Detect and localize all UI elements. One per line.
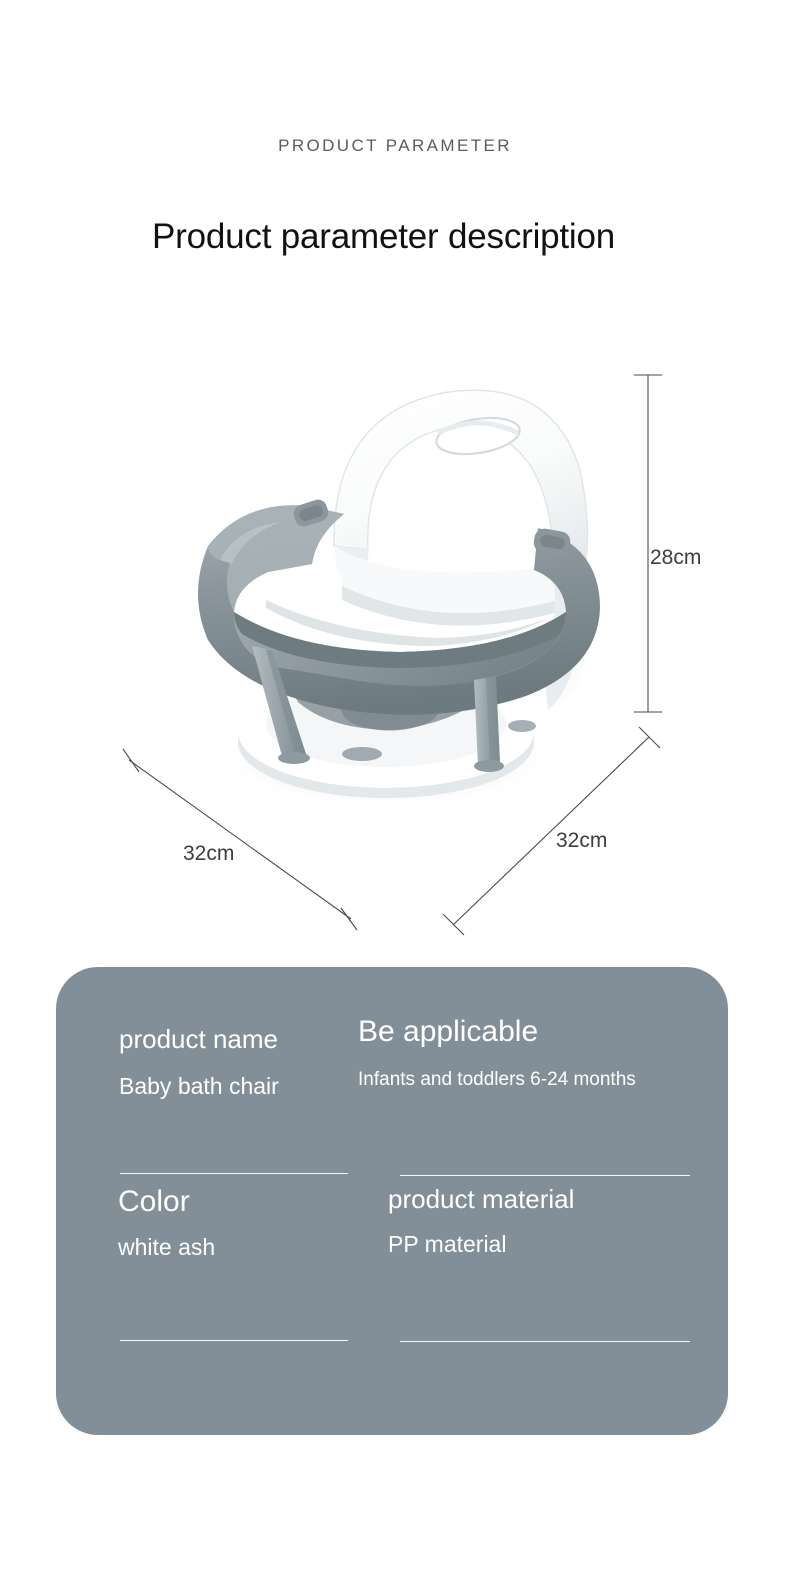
spec-divider-3 [120, 1340, 348, 1341]
dimension-depth-label: 32cm [556, 829, 607, 853]
baby-bath-chair-illustration [148, 350, 618, 820]
spec-label-product-material: product material [388, 1185, 698, 1214]
product-parameter-page: PRODUCT PARAMETER Product parameter desc… [0, 0, 790, 1595]
dimension-width-label: 32cm [183, 842, 234, 866]
section-eyebrow: PRODUCT PARAMETER [0, 136, 790, 156]
spec-value-be-applicable: Infants and toddlers 6-24 months [358, 1070, 698, 1091]
spec-row-be-applicable: Be applicable Infants and toddlers 6-24 … [358, 1015, 698, 1091]
spec-value-product-material: PP material [388, 1232, 698, 1257]
spec-value-color: white ash [118, 1235, 408, 1260]
spec-card: product name Baby bath chair Be applicab… [56, 967, 728, 1435]
spec-row-color: Color white ash [118, 1185, 408, 1260]
spec-divider-1 [120, 1173, 348, 1174]
page-title: Product parameter description [152, 217, 672, 257]
spec-row-product-material: product material PP material [388, 1185, 698, 1257]
spec-divider-4 [400, 1341, 690, 1342]
spec-label-color: Color [118, 1185, 408, 1218]
dimension-height-label: 28cm [650, 546, 701, 570]
spec-divider-2 [400, 1175, 690, 1176]
spec-label-be-applicable: Be applicable [358, 1015, 698, 1048]
